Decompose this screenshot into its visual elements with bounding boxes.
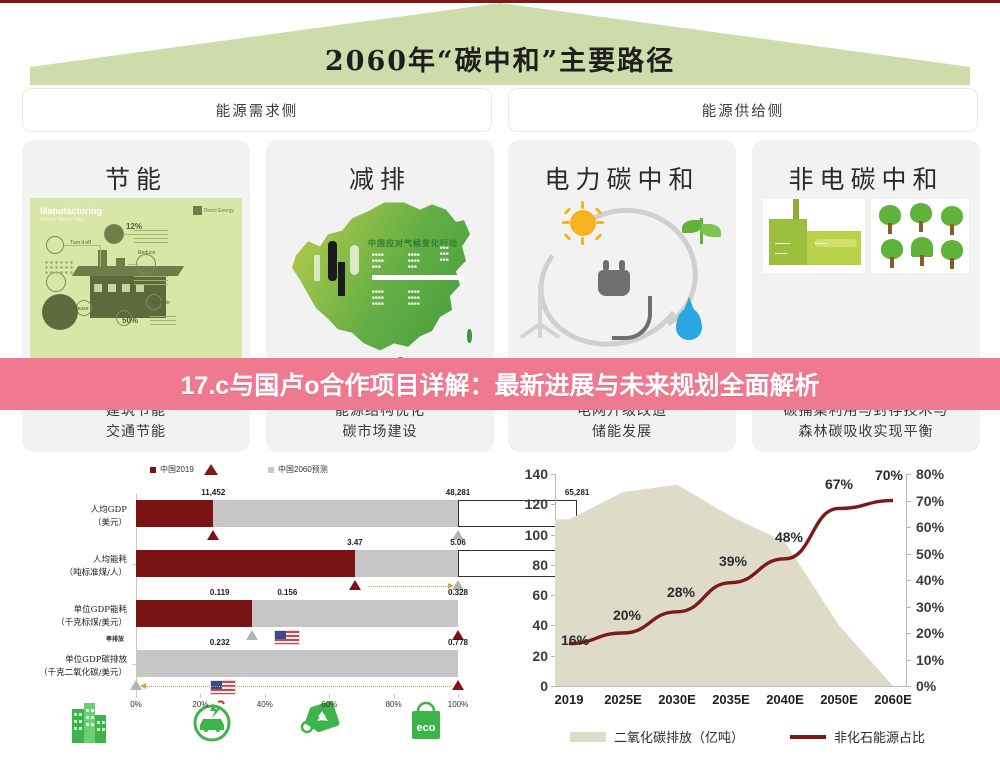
line-chart-plot-area: 16%20%28%39%48%67%70%0204060801001201400… bbox=[555, 474, 907, 686]
right-axis-tick-label: 40% bbox=[916, 572, 944, 588]
us-flag-marker bbox=[210, 680, 236, 695]
stat-12-percent: 12% bbox=[126, 222, 142, 231]
chart-svg bbox=[555, 474, 907, 686]
legend-swatch-area bbox=[570, 732, 606, 742]
legend-swatch-red bbox=[150, 467, 156, 473]
left-axis-tick bbox=[551, 656, 555, 657]
bar-value-label: 0.156 bbox=[277, 588, 297, 597]
note-reduce: Reduce bbox=[138, 250, 155, 256]
left-axis-tick-label: 20 bbox=[532, 648, 548, 664]
right-axis-tick bbox=[907, 660, 911, 661]
map-light-shape bbox=[314, 255, 320, 281]
x-axis-label: 40% bbox=[257, 700, 273, 709]
plant-caption: ▬▬▬▬ bbox=[815, 241, 827, 245]
panel-title-power-carbon-neutral: 电力碳中和 bbox=[508, 140, 736, 196]
bar-row-label: 单位GDP碳排放（千克二氧化碳/美元） bbox=[31, 654, 127, 680]
bar-segment-grey bbox=[136, 650, 458, 677]
right-axis-tick bbox=[907, 633, 911, 634]
map-dark-shape-1 bbox=[328, 241, 337, 281]
turbine-blade bbox=[538, 282, 542, 306]
page-title: 2060年“碳中和”主要路径 bbox=[0, 39, 1000, 78]
trend-arrow-head bbox=[140, 683, 146, 689]
bar-value-label: 48,281 bbox=[446, 488, 470, 497]
left-axis-tick bbox=[551, 474, 555, 475]
roof-banner: 2060年“碳中和”主要路径 bbox=[0, 3, 1000, 85]
bulb-icon bbox=[104, 224, 124, 244]
axis-tick bbox=[132, 664, 136, 665]
x-axis-tick bbox=[265, 694, 266, 698]
right-axis-tick bbox=[907, 474, 911, 475]
bar-value-label: 0.119 bbox=[210, 588, 230, 597]
foot-line: 森林碳吸收实现平衡 bbox=[752, 422, 980, 444]
left-axis-tick bbox=[551, 565, 555, 566]
panel-title-nonpower-carbon-neutral: 非电碳中和 bbox=[752, 140, 980, 196]
foot-line: 储能发展 bbox=[508, 422, 736, 444]
map-dark-shape-2 bbox=[338, 262, 345, 296]
left-axis-tick-label: 100 bbox=[525, 527, 548, 543]
line-data-label: 20% bbox=[613, 607, 641, 623]
trend-arrow-line bbox=[146, 686, 452, 687]
legend-item-china-2019: 中国2019 bbox=[150, 464, 218, 475]
right-axis-tick-label: 20% bbox=[916, 625, 944, 641]
bar-value-label: 0.232 bbox=[210, 638, 230, 647]
x-axis-tick bbox=[136, 694, 137, 698]
left-axis-tick-label: 60 bbox=[532, 587, 548, 603]
x-axis-label: 2019 bbox=[555, 692, 584, 707]
row-label-line2: （美元） bbox=[93, 518, 127, 528]
plant-caption: ▬▬▬▬▬ bbox=[775, 241, 790, 245]
x-axis-label: 0% bbox=[130, 700, 142, 709]
x-axis-tick bbox=[458, 694, 459, 698]
sun-icon bbox=[570, 210, 596, 236]
taiwan-island bbox=[467, 329, 472, 343]
right-axis-tick bbox=[907, 607, 911, 608]
right-axis-tick bbox=[907, 686, 911, 687]
tree-icon bbox=[939, 240, 965, 270]
map-banner-box bbox=[372, 275, 464, 280]
legend-item-china-2060: 中国2060预测 bbox=[268, 464, 328, 475]
line-data-label: 28% bbox=[667, 584, 695, 600]
right-axis-tick-label: 60% bbox=[916, 519, 944, 535]
x-axis-tick bbox=[329, 694, 330, 698]
foot-line: 碳市场建设 bbox=[266, 422, 494, 444]
left-axis-tick-label: 120 bbox=[525, 496, 548, 512]
dot-texture bbox=[44, 260, 74, 276]
china-map-image: 中国应对气候变化行动 ■■■■■■■■■■■ ■■■■■■■■■■■ ■■■■■… bbox=[280, 192, 480, 368]
bar-value-label: 0.328 bbox=[448, 588, 468, 597]
row-label-line2: （千克二氧化碳/美元） bbox=[39, 668, 127, 678]
turn-it-off-icon bbox=[46, 236, 64, 254]
legend-swatch-grey bbox=[268, 467, 274, 473]
turbine-blade bbox=[519, 322, 541, 339]
right-axis-tick-label: 0% bbox=[916, 678, 936, 694]
tree-icon bbox=[908, 203, 934, 233]
legend-item-nonfossil: 非化石能源占比 bbox=[790, 727, 925, 746]
right-axis-tick-label: 80% bbox=[916, 466, 944, 482]
map-text-block: ■■■■■■■■■■■ bbox=[372, 252, 404, 270]
sun-ray bbox=[581, 201, 584, 209]
poster-subheading: Energy Saving Tips bbox=[40, 217, 83, 223]
connector-line-4 bbox=[100, 245, 101, 267]
left-axis-tick-label: 80 bbox=[532, 557, 548, 573]
bar-chart-comparison: 中国2019 中国2060预测 人均GDP（美元）11,45248,28165,… bbox=[18, 458, 498, 748]
panel-title-energy-saving: 节能 bbox=[22, 140, 250, 196]
section-header-supply-label: 能源供给侧 bbox=[702, 100, 785, 121]
legend-item-co2: 二氧化碳排放（亿吨） bbox=[570, 727, 744, 746]
map-text-block: ■■■■■■■■■■■■ bbox=[372, 289, 404, 307]
left-axis-tick bbox=[551, 535, 555, 536]
left-axis-tick-label: 40 bbox=[532, 617, 548, 633]
text-lines-2 bbox=[134, 276, 168, 288]
direct-energy-logo: Direct Energy bbox=[193, 206, 234, 215]
x-axis-label: 2030E bbox=[658, 692, 696, 707]
x-axis-label: 2035E bbox=[712, 692, 750, 707]
water-drop-icon bbox=[676, 308, 702, 340]
bar-value-label: 5.06 bbox=[450, 538, 466, 547]
x-axis-label: 80% bbox=[386, 700, 402, 709]
sun-ray bbox=[596, 221, 604, 224]
x-axis-label: 2050E bbox=[820, 692, 858, 707]
x-axis-label: 2025E bbox=[604, 692, 642, 707]
bar-segment-red bbox=[136, 550, 355, 577]
connector-line-2 bbox=[124, 234, 138, 235]
row-label-line1: 人均GDP bbox=[91, 505, 127, 515]
dark-circle-badge bbox=[42, 294, 78, 330]
right-axis-tick bbox=[907, 580, 911, 581]
marker-china-2019 bbox=[207, 530, 219, 540]
bar-row-label: 人均能耗（吨标准煤/人） bbox=[31, 554, 127, 580]
manufacturing-poster-image: Manufacturing Energy Saving Tips Direct … bbox=[30, 198, 242, 362]
bar-value-label: 11,452 bbox=[201, 488, 225, 497]
bar-value-label: 0.778 bbox=[448, 638, 468, 647]
bar-chart-plot-area: 人均GDP（美元）11,45248,28165,281人均能耗（吨标准煤/人）3… bbox=[136, 494, 458, 694]
tree-icon bbox=[939, 206, 965, 236]
stat-50-percent: 50% bbox=[122, 316, 138, 325]
china-map-shape bbox=[280, 192, 480, 368]
chart-annotation: 率排放 bbox=[106, 634, 124, 643]
x-axis-tick bbox=[200, 694, 201, 698]
legend-triangle-red bbox=[204, 464, 218, 475]
sun-ray bbox=[564, 207, 572, 215]
legend-label: 中国2019 bbox=[160, 464, 194, 475]
trend-arrow-line bbox=[368, 586, 449, 587]
co2-emission-area bbox=[555, 485, 907, 686]
left-axis-tick bbox=[551, 504, 555, 505]
map-text-block: ■■■■■■■■■■■ bbox=[408, 252, 438, 270]
right-axis-tick bbox=[907, 554, 911, 555]
axis-tick bbox=[132, 564, 136, 565]
tree-icon bbox=[879, 239, 905, 269]
marker-china-2060 bbox=[246, 630, 258, 640]
brand-label: Direct Energy bbox=[204, 208, 234, 214]
panel-title-emission-reduction: 减排 bbox=[266, 140, 494, 196]
marker-china-2019 bbox=[349, 580, 361, 590]
recycle-icon bbox=[136, 254, 156, 274]
green-plant-illustration: ▬▬▬▬▬ ▬▬▬▬ ▬▬▬▬ bbox=[762, 198, 866, 274]
poster-heading: Manufacturing bbox=[40, 206, 102, 216]
row-label-line2: （千克标煤/美元） bbox=[56, 618, 127, 628]
x-axis-label: 2060E bbox=[874, 692, 912, 707]
energy-cycle-diagram bbox=[532, 202, 712, 362]
note-reuse: Reuse bbox=[74, 306, 88, 312]
x-axis-label: 20% bbox=[192, 700, 208, 709]
map-bottle-shape bbox=[350, 245, 359, 275]
legend-label: 二氧化碳排放（亿吨） bbox=[614, 727, 744, 746]
co2-and-nonfossil-chart: 16%20%28%39%48%67%70%0204060801001201400… bbox=[505, 458, 990, 748]
sun-ray bbox=[562, 221, 570, 224]
right-axis-tick-label: 50% bbox=[916, 546, 944, 562]
forest-illustration bbox=[870, 198, 970, 274]
overlay-banner-text: 17.c与国卢o合作项目详解：最新进展与未来规划全面解析 bbox=[181, 366, 820, 402]
x-axis bbox=[555, 686, 907, 687]
plug-icon bbox=[598, 270, 630, 296]
note-recycle: Recycle bbox=[152, 300, 170, 306]
left-axis-tick bbox=[551, 686, 555, 687]
text-lines-1 bbox=[134, 230, 168, 244]
note-turn-it-off: Turn it off bbox=[70, 240, 91, 246]
bar-value-label: 3.47 bbox=[347, 538, 363, 547]
section-header-demand: 能源需求侧 bbox=[22, 88, 492, 132]
tree-icon bbox=[877, 205, 903, 235]
connector-line-3 bbox=[128, 264, 138, 265]
line-data-label: 70% bbox=[875, 467, 903, 483]
map-text-block: ■■■■■■■■■■■■ bbox=[408, 289, 440, 307]
legend-label: 中国2060预测 bbox=[278, 464, 328, 475]
bar-segment-red bbox=[136, 500, 213, 527]
right-axis-tick-label: 70% bbox=[916, 493, 944, 509]
row-label-line1: 人均能耗 bbox=[93, 555, 127, 565]
map-text-block: ■■■■■■■■■ bbox=[440, 245, 468, 263]
line-data-label: 67% bbox=[825, 476, 853, 492]
right-axis-tick-label: 10% bbox=[916, 652, 944, 668]
us-flag-marker bbox=[274, 630, 300, 645]
plant-chimney bbox=[793, 198, 799, 219]
plant-caption: ▬▬▬▬ bbox=[775, 251, 787, 255]
section-header-demand-label: 能源需求侧 bbox=[216, 100, 299, 121]
right-axis-tick bbox=[907, 501, 911, 502]
sun-ray bbox=[581, 237, 584, 245]
section-header-supply: 能源供给侧 bbox=[508, 88, 978, 132]
row-label-line1: 单位GDP碳排放 bbox=[65, 655, 127, 665]
foot-line: 交通节能 bbox=[22, 422, 250, 444]
left-axis-tick-label: 0 bbox=[540, 678, 548, 694]
right-axis-tick-label: 30% bbox=[916, 599, 944, 615]
x-axis-label: 60% bbox=[321, 700, 337, 709]
x-axis-tick bbox=[394, 694, 395, 698]
row-label-line1: 单位GDP能耗 bbox=[74, 605, 127, 615]
left-axis-tick bbox=[551, 625, 555, 626]
tree-icon bbox=[909, 237, 935, 267]
factory-roof-shape bbox=[72, 266, 184, 276]
bar-row-label: 单位GDP能耗（千克标煤/美元） bbox=[31, 604, 127, 630]
line-data-label: 16% bbox=[561, 632, 589, 648]
line-chart-legend: 二氧化碳排放（亿吨） 非化石能源占比 bbox=[505, 727, 990, 746]
right-axis-tick bbox=[907, 527, 911, 528]
left-axis-tick bbox=[551, 595, 555, 596]
bar-chart-legend: 中国2019 中国2060预测 bbox=[18, 462, 498, 480]
left-axis-tick-label: 140 bbox=[525, 466, 548, 482]
line-data-label: 48% bbox=[775, 529, 803, 545]
line-data-label: 39% bbox=[719, 553, 747, 569]
wind-turbine-icon bbox=[538, 304, 542, 338]
bar-row-label: 人均GDP（美元） bbox=[31, 504, 127, 530]
legend-label: 非化石能源占比 bbox=[834, 727, 925, 746]
marker-china-2019 bbox=[452, 680, 464, 690]
x-axis-label: 100% bbox=[448, 700, 468, 709]
text-lines-3 bbox=[150, 316, 176, 326]
bar-segment-red bbox=[136, 600, 252, 627]
row-label-line2: （吨标准煤/人） bbox=[65, 568, 127, 578]
x-axis-label: 2040E bbox=[766, 692, 804, 707]
legend-swatch-line bbox=[790, 735, 826, 739]
overlay-banner: 17.c与国卢o合作项目详解：最新进展与未来规划全面解析 bbox=[0, 358, 1000, 410]
